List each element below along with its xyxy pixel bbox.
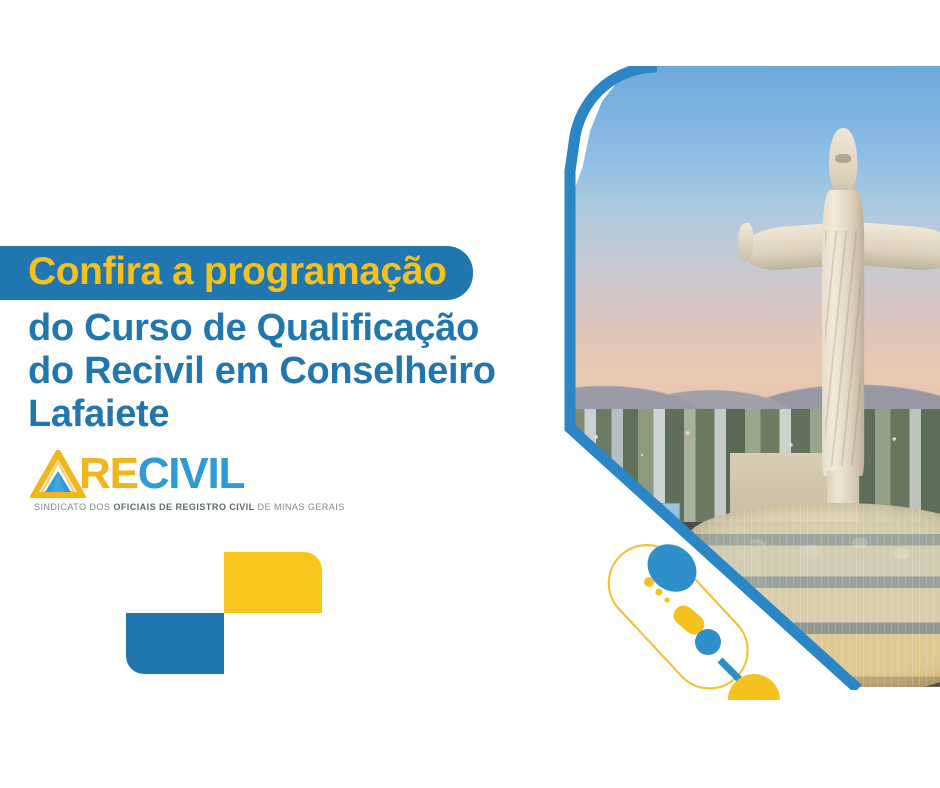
capsule-blue-circle (695, 629, 721, 655)
capsule-dots-decoration (592, 520, 822, 700)
headline-body: do Curso de Qualificação do Recivil em C… (28, 307, 548, 436)
logo-tagline-prefix: SINDICATO DOS (34, 502, 113, 512)
headline-highlight-band: Confira a programação (0, 246, 473, 300)
stair-step-shape (126, 552, 322, 674)
statue-left-hand (738, 223, 753, 261)
headline-line-3: do Recivil em Conselheiro (28, 350, 548, 393)
poster-canvas: Confira a programação do Curso de Qualif… (0, 0, 940, 788)
logo-wordmark-row: RECIVIL (30, 450, 345, 498)
capsule-dot-3 (664, 597, 669, 602)
recivil-logo: RECIVIL SINDICATO DOS OFICIAIS DE REGIST… (30, 450, 345, 512)
logo-tagline: SINDICATO DOS OFICIAIS DE REGISTRO CIVIL… (34, 502, 345, 512)
logo-word-civil: CIVIL (138, 449, 244, 498)
capsule-dot-2 (655, 588, 662, 595)
statue-right-arm (860, 222, 940, 273)
logo-word-re: RE (79, 449, 138, 498)
statue-robe-folds (825, 231, 861, 466)
capsule-dot-1 (644, 577, 654, 587)
logo-tagline-suffix: DE MINAS GERAIS (255, 502, 345, 512)
headline-line-4: Lafaiete (28, 393, 548, 436)
headline-highlight-text: Confira a programação (28, 250, 447, 293)
logo-tagline-bold: OFICIAIS DE REGISTRO CIVIL (113, 502, 254, 512)
headline-line-2: do Curso de Qualificação (28, 307, 548, 350)
headline-block: Confira a programação do Curso de Qualif… (28, 246, 548, 436)
statue-head (829, 128, 857, 195)
recivil-triangle-mark-icon (30, 450, 86, 498)
logo-wordmark: RECIVIL (79, 452, 244, 496)
